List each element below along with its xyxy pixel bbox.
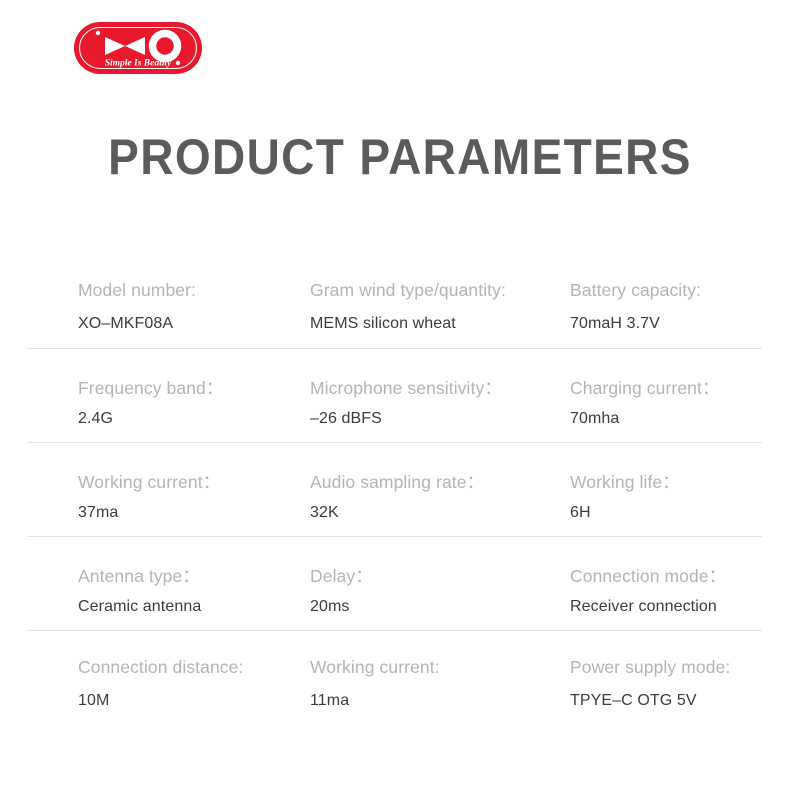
spec-cell: Frequency band： 2.4G <box>78 349 313 443</box>
spec-label: Gram wind type/quantity: <box>310 280 506 301</box>
spec-label: Microphone sensitivity： <box>310 375 502 400</box>
spec-cell: Power supply mode: TPYE–C OTG 5V <box>570 631 765 725</box>
spec-value: 37ma <box>78 504 118 522</box>
spec-value: Receiver connection <box>570 598 717 616</box>
spec-cell: Charging current： 70mha <box>570 349 765 443</box>
spec-label: Battery capacity: <box>570 280 701 301</box>
table-row: Working current： 37ma Audio sampling rat… <box>27 442 762 536</box>
spec-label: Model number: <box>78 280 196 301</box>
spec-cell: Connection mode： Receiver connection <box>570 537 765 631</box>
spec-value: MEMS silicon wheat <box>310 315 456 333</box>
spec-cell: Delay： 20ms <box>310 537 575 631</box>
spec-cell: Working current： 37ma <box>78 443 313 537</box>
spec-cell: Battery capacity: 70maH 3.7V <box>570 254 765 348</box>
spec-value: –26 dBFS <box>310 410 382 428</box>
xo-logo-icon: Simple Is Beauty <box>72 17 204 79</box>
spec-value: 11ma <box>310 692 349 710</box>
spec-cell: Working current: 11ma <box>310 631 575 725</box>
table-row: Frequency band： 2.4G Microphone sensitiv… <box>27 348 762 442</box>
product-parameters-table: Model number: XO–MKF08A Gram wind type/q… <box>27 254 762 724</box>
spec-label: Frequency band： <box>78 375 223 400</box>
spec-value: 70mha <box>570 410 619 428</box>
table-row: Model number: XO–MKF08A Gram wind type/q… <box>27 254 762 348</box>
spec-cell: Working life： 6H <box>570 443 765 537</box>
spec-label: Delay： <box>310 563 373 588</box>
spec-cell: Antenna type： Ceramic antenna <box>78 537 313 631</box>
spec-cell: Model number: XO–MKF08A <box>78 254 313 348</box>
spec-value: 10M <box>78 692 109 710</box>
spec-value: XO–MKF08A <box>78 315 173 333</box>
spec-label: Charging current： <box>570 375 720 400</box>
table-row: Antenna type： Ceramic antenna Delay： 20m… <box>27 536 762 630</box>
spec-cell: Gram wind type/quantity: MEMS silicon wh… <box>310 254 575 348</box>
brand-logo: Simple Is Beauty <box>72 17 204 79</box>
spec-value: 70maH 3.7V <box>570 315 660 333</box>
spec-value: 6H <box>570 504 591 522</box>
spec-label: Working life： <box>570 469 680 494</box>
spec-label: Audio sampling rate： <box>310 469 484 494</box>
spec-label: Connection distance: <box>78 657 243 678</box>
logo-tagline: Simple Is Beauty <box>105 59 172 69</box>
spec-label: Power supply mode: <box>570 657 730 678</box>
spec-value: 32K <box>310 504 339 522</box>
spec-label: Working current： <box>78 469 220 494</box>
spec-value: 20ms <box>310 598 350 616</box>
table-row: Connection distance: 10M Working current… <box>27 630 762 724</box>
spec-value: Ceramic antenna <box>78 598 201 616</box>
spec-value: 2.4G <box>78 410 113 428</box>
spec-cell: Microphone sensitivity： –26 dBFS <box>310 349 575 443</box>
spec-label: Connection mode： <box>570 563 726 588</box>
spec-label: Working current: <box>310 657 440 678</box>
spec-cell: Audio sampling rate： 32K <box>310 443 575 537</box>
spec-label: Antenna type： <box>78 563 200 588</box>
page-title: PRODUCT PARAMETERS <box>32 128 768 186</box>
spec-value: TPYE–C OTG 5V <box>570 692 697 710</box>
spec-cell: Connection distance: 10M <box>78 631 313 725</box>
